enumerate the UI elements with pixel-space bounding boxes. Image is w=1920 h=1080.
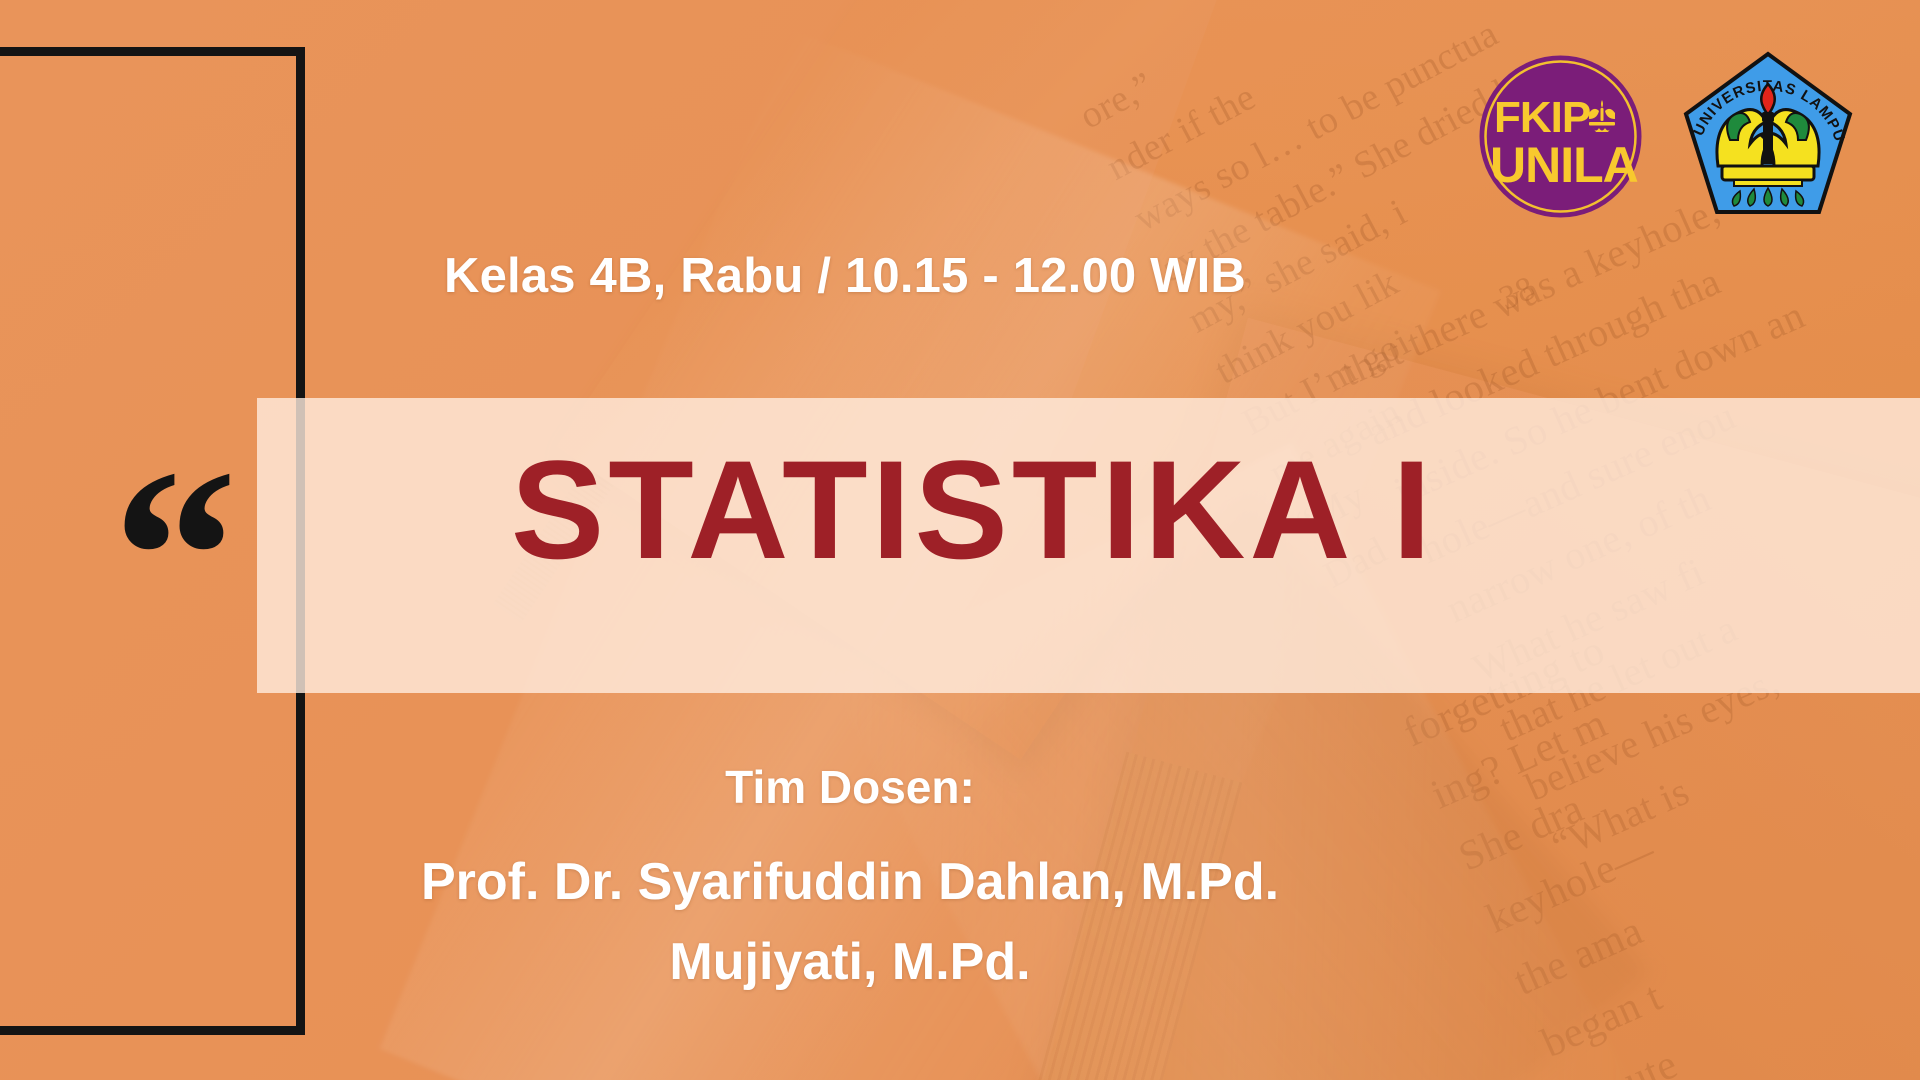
course-title: STATISTIKA I bbox=[258, 440, 1688, 580]
quote-mark-icon: “ bbox=[60, 432, 290, 682]
lecturer-name-2: Mujiyati, M.Pd. bbox=[0, 932, 1700, 992]
presentation-slide: 38 ore,”nder if theways so l… to be punc… bbox=[0, 0, 1920, 1080]
class-schedule-text: Kelas 4B, Rabu / 10.15 - 12.00 WIB bbox=[0, 248, 1690, 304]
logo-group: FKIP UNILA UNIVERSITAS LAMPUNG bbox=[1478, 48, 1898, 228]
lecturer-credits: Tim Dosen: Prof. Dr. Syarifuddin Dahlan,… bbox=[0, 760, 1700, 1012]
svg-text:FKIP: FKIP bbox=[1494, 93, 1590, 142]
fkip-unila-logo: FKIP UNILA bbox=[1478, 54, 1643, 219]
lecturer-name-1: Prof. Dr. Syarifuddin Dahlan, M.Pd. bbox=[0, 852, 1700, 912]
svg-text:UNILA: UNILA bbox=[1490, 137, 1638, 193]
universitas-lampung-logo: UNIVERSITAS LAMPUNG bbox=[1678, 48, 1858, 228]
credits-label: Tim Dosen: bbox=[0, 760, 1700, 814]
